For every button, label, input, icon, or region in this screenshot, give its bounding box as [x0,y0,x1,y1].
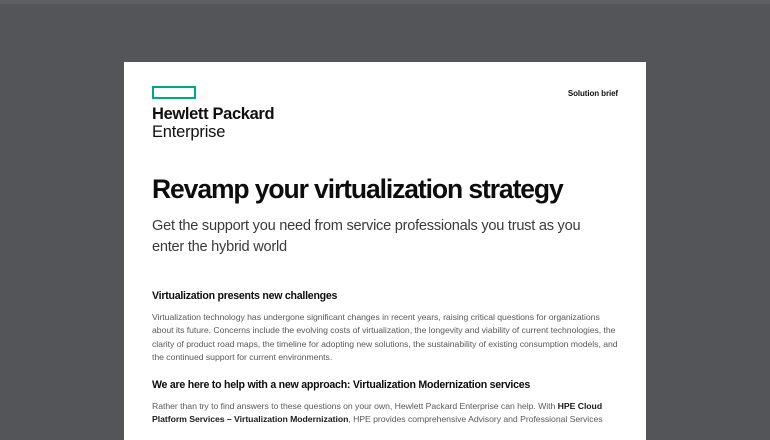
page-subtitle: Get the support you need from service pr… [152,216,612,257]
page-title: Revamp your virtualization strategy [152,175,618,204]
document-type-label: Solution brief [568,89,618,98]
document-viewer[interactable]: Hewlett Packard Enterprise Solution brie… [0,0,770,440]
section-virtualization-challenges: Virtualization presents new challenges V… [152,289,618,365]
hpe-rectangle-mark-icon [152,86,196,99]
section-body: Rather than try to find answers to these… [152,400,618,427]
document-page[interactable]: Hewlett Packard Enterprise Solution brie… [124,62,646,440]
body-sections: Virtualization presents new challenges V… [152,289,618,426]
section-new-approach: We are here to help with a new approach:… [152,378,618,427]
section-heading: We are here to help with a new approach:… [152,378,618,392]
viewer-top-rule [0,0,770,4]
page-content: Hewlett Packard Enterprise Solution brie… [124,62,646,426]
hpe-logo: Hewlett Packard Enterprise [152,86,332,142]
section-body: Virtualization technology has undergone … [152,311,618,365]
section-heading: Virtualization presents new challenges [152,289,618,303]
page-header: Hewlett Packard Enterprise Solution brie… [152,62,618,148]
logo-line-hewlett-packard: Hewlett Packard [152,106,332,123]
hero-block: Revamp your virtualization strategy Get … [152,175,618,257]
logo-line-enterprise: Enterprise [152,123,332,142]
